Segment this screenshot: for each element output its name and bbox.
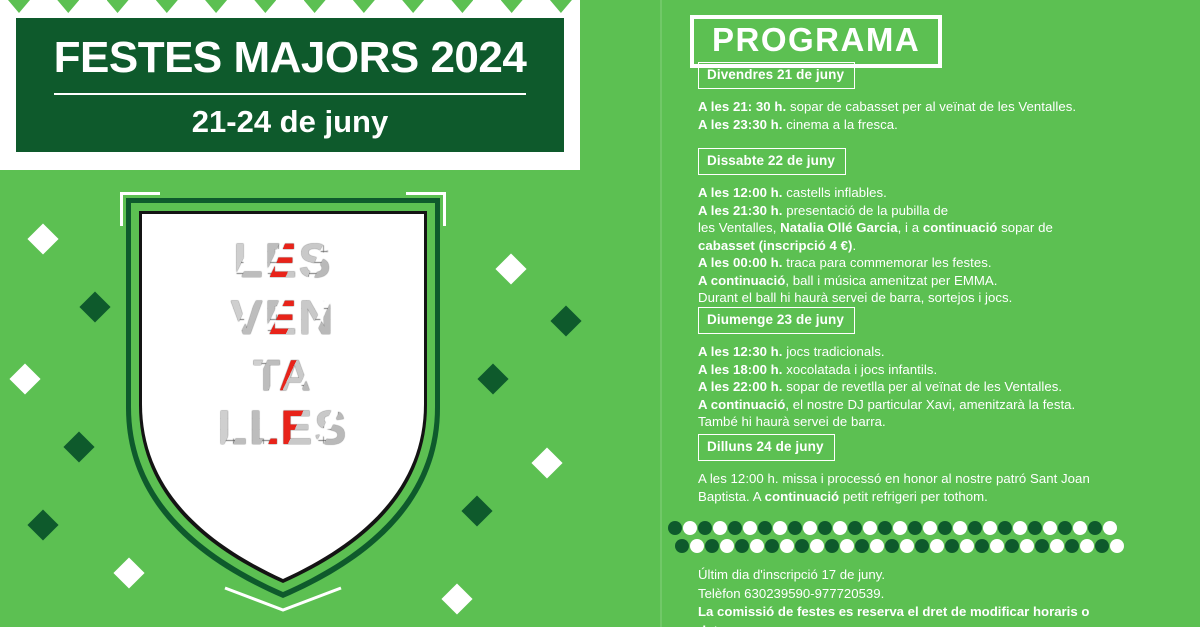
divider-dot bbox=[1080, 539, 1094, 553]
dot-pattern-divider bbox=[668, 521, 1128, 559]
event-emphasis: A continuació bbox=[698, 273, 785, 288]
program-day-tag-label: Divendres 21 de juny bbox=[707, 67, 844, 82]
banner-notch bbox=[451, 0, 473, 13]
crest-line-1: LES bbox=[233, 238, 332, 285]
divider-dot bbox=[960, 539, 974, 553]
event-text: , ball i música amenitzat per EMMA. bbox=[785, 273, 997, 288]
footer-notes: Últim dia d'inscripció 17 de juny.Telèfo… bbox=[698, 566, 1118, 627]
event-emphasis: A les 23:30 h. bbox=[698, 117, 783, 132]
divider-dot bbox=[810, 539, 824, 553]
divider-dot bbox=[968, 521, 982, 535]
event-text: sopar de revetlla per al veïnat de les V… bbox=[783, 379, 1063, 394]
program-day-tag-label: Dilluns 24 de juny bbox=[707, 439, 824, 454]
decorative-diamond bbox=[477, 363, 508, 394]
program-day: Dilluns 24 de junyA les 12:00 h. missa i… bbox=[698, 434, 1168, 505]
divider-dot bbox=[788, 521, 802, 535]
program-event-line: cabasset (inscripció 4 €). bbox=[698, 237, 1168, 255]
event-emphasis: A les 21: 30 h. bbox=[698, 99, 786, 114]
event-emphasis: continuació bbox=[923, 220, 998, 235]
divider-dot bbox=[1065, 539, 1079, 553]
banner-notch bbox=[107, 0, 129, 13]
program-day-tag-label: Dissabte 22 de juny bbox=[707, 153, 835, 168]
divider-dot bbox=[855, 539, 869, 553]
village-crest: LES VEN TA LLES bbox=[118, 190, 448, 610]
footer-note: Últim dia d'inscripció 17 de juny. bbox=[698, 566, 1118, 585]
divider-dot bbox=[750, 539, 764, 553]
divider-dot bbox=[758, 521, 772, 535]
footer-note: Telèfon 630239590-977720539. bbox=[698, 585, 1118, 604]
divider-dot bbox=[1058, 521, 1072, 535]
divider-dot bbox=[705, 539, 719, 553]
divider-dot bbox=[938, 521, 952, 535]
divider-dot bbox=[765, 539, 779, 553]
festival-dates: 21-24 de juny bbox=[192, 106, 388, 137]
banner-notch bbox=[57, 0, 79, 13]
divider-dot bbox=[773, 521, 787, 535]
divider-dot bbox=[675, 539, 689, 553]
divider-dot bbox=[945, 539, 959, 553]
divider-dot bbox=[915, 539, 929, 553]
event-text: sopar de bbox=[997, 220, 1052, 235]
divider-dot bbox=[1095, 539, 1109, 553]
divider-dot bbox=[825, 539, 839, 553]
banner-notch bbox=[353, 0, 375, 13]
divider-dot bbox=[848, 521, 862, 535]
decorative-diamond bbox=[79, 291, 110, 322]
divider-dot bbox=[1020, 539, 1034, 553]
program-day: Diumenge 23 de junyA les 12:30 h. jocs t… bbox=[698, 307, 1168, 431]
event-text: , i a bbox=[898, 220, 923, 235]
crest-wordmark: LES VEN TA LLES bbox=[142, 214, 424, 579]
title-banner-inner: FESTES MAJORS 2024 21-24 de juny bbox=[16, 18, 564, 152]
program-event-line: A les 21: 30 h. sopar de cabasset per al… bbox=[698, 98, 1168, 116]
program-day-tag-label: Diumenge 23 de juny bbox=[707, 312, 844, 327]
program-day-tag: Dilluns 24 de juny bbox=[698, 434, 835, 461]
divider-dot bbox=[870, 539, 884, 553]
program-event-line: També hi haurà servei de barra. bbox=[698, 413, 1168, 431]
event-emphasis: A les 12:00 h. bbox=[698, 185, 783, 200]
divider-dot bbox=[1110, 539, 1124, 553]
divider-dot bbox=[998, 521, 1012, 535]
event-emphasis: A les 21:30 h. bbox=[698, 203, 783, 218]
decorative-diamond bbox=[27, 223, 58, 254]
banner-notch bbox=[304, 0, 326, 13]
program-day: Divendres 21 de junyA les 21: 30 h. sopa… bbox=[698, 62, 1168, 133]
divider-dot bbox=[690, 539, 704, 553]
event-emphasis: A les 00:00 h. bbox=[698, 255, 783, 270]
program-day-tag: Diumenge 23 de juny bbox=[698, 307, 855, 334]
event-text: castells inflables. bbox=[783, 185, 887, 200]
divider-dot bbox=[983, 521, 997, 535]
divider-dot bbox=[1028, 521, 1042, 535]
program-event-line: A les 23:30 h. cinema a la fresca. bbox=[698, 116, 1168, 134]
program-event-line: A les 22:00 h. sopar de revetlla per al … bbox=[698, 378, 1168, 396]
program-event-line: A les 12:00 h. missa i processó en honor… bbox=[698, 470, 1168, 488]
festival-title: FESTES MAJORS 2024 bbox=[54, 36, 527, 80]
banner-notch bbox=[402, 0, 424, 13]
crest-line-3: TA bbox=[253, 354, 312, 397]
decorative-diamond bbox=[550, 305, 581, 336]
program-event-line: Baptista. A continuació petit refrigeri … bbox=[698, 488, 1168, 506]
divider-dot bbox=[1043, 521, 1057, 535]
divider-dot bbox=[1073, 521, 1087, 535]
divider-dot bbox=[878, 521, 892, 535]
divider-dot bbox=[683, 521, 697, 535]
banner-notch bbox=[8, 0, 30, 13]
event-emphasis: A les 22:00 h. bbox=[698, 379, 783, 394]
event-text: sopar de cabasset per al veïnat de les V… bbox=[786, 99, 1076, 114]
divider-dot bbox=[900, 539, 914, 553]
event-text: xocolatada i jocs infantils. bbox=[783, 362, 938, 377]
event-emphasis: continuació bbox=[765, 489, 840, 504]
divider-dot bbox=[1050, 539, 1064, 553]
banner-notch bbox=[156, 0, 178, 13]
banner-notch bbox=[205, 0, 227, 13]
program-heading: PROGRAMA bbox=[690, 15, 942, 68]
event-text: Baptista. A bbox=[698, 489, 765, 504]
divider-dot bbox=[735, 539, 749, 553]
event-text: També hi haurà servei de barra. bbox=[698, 414, 886, 429]
crest-line-2: VEN bbox=[231, 295, 336, 342]
divider-dot bbox=[698, 521, 712, 535]
banner-notch-row bbox=[0, 0, 580, 14]
divider-dot bbox=[840, 539, 854, 553]
footer-note: La comissió de festes es reserva el dret… bbox=[698, 603, 1118, 627]
divider-dot bbox=[893, 521, 907, 535]
left-panel: FESTES MAJORS 2024 21-24 de juny LES VEN… bbox=[0, 0, 660, 627]
dot-row-top bbox=[668, 521, 1118, 535]
divider-dot bbox=[975, 539, 989, 553]
dot-row-bottom bbox=[675, 539, 1125, 553]
program-event-line: A les 00:00 h. traca para commemorar les… bbox=[698, 254, 1168, 272]
divider-dot bbox=[863, 521, 877, 535]
event-emphasis: cabasset (inscripció 4 €) bbox=[698, 238, 852, 253]
program-day: Dissabte 22 de junyA les 12:00 h. castel… bbox=[698, 148, 1168, 307]
divider-dot bbox=[743, 521, 757, 535]
event-emphasis: A les 12:30 h. bbox=[698, 344, 783, 359]
festival-poster: FESTES MAJORS 2024 21-24 de juny LES VEN… bbox=[0, 0, 1200, 627]
program-event-line: A continuació, el nostre DJ particular X… bbox=[698, 396, 1168, 414]
divider-dot bbox=[953, 521, 967, 535]
event-text: . bbox=[852, 238, 856, 253]
event-text: Durant el ball hi haurà servei de barra,… bbox=[698, 290, 1012, 305]
event-text: les Ventalles, bbox=[698, 220, 780, 235]
event-text: petit refrigeri per tothom. bbox=[839, 489, 988, 504]
program-event-line: A continuació, ball i música amenitzat p… bbox=[698, 272, 1168, 290]
program-event-line: A les 12:30 h. jocs tradicionals. bbox=[698, 343, 1168, 361]
divider-dot bbox=[1088, 521, 1102, 535]
divider-dot bbox=[908, 521, 922, 535]
banner-notch bbox=[254, 0, 276, 13]
decorative-diamond bbox=[63, 431, 94, 462]
event-text: , el nostre DJ particular Xavi, amenitza… bbox=[785, 397, 1075, 412]
program-event-line: A les 21:30 h. presentació de la pubilla… bbox=[698, 202, 1168, 220]
program-event-line: A les 12:00 h. castells inflables. bbox=[698, 184, 1168, 202]
event-text: traca para commemorar les festes. bbox=[783, 255, 992, 270]
divider-dot bbox=[728, 521, 742, 535]
divider-dot bbox=[1005, 539, 1019, 553]
divider-dot bbox=[795, 539, 809, 553]
event-text: presentació de la pubilla de bbox=[783, 203, 949, 218]
divider-dot bbox=[1103, 521, 1117, 535]
crest-bottom-chevron bbox=[221, 584, 345, 614]
program-day-tag: Dissabte 22 de juny bbox=[698, 148, 846, 175]
decorative-diamond bbox=[495, 253, 526, 284]
program-heading-label: PROGRAMA bbox=[712, 23, 920, 58]
event-text: A les 12:00 h. missa i processó en honor… bbox=[698, 471, 1090, 486]
banner-notch bbox=[501, 0, 523, 13]
event-emphasis: A les 18:00 h. bbox=[698, 362, 783, 377]
divider-dot bbox=[818, 521, 832, 535]
event-emphasis: Natalia Ollé Garcia bbox=[780, 220, 898, 235]
divider-dot bbox=[990, 539, 1004, 553]
title-divider-rule bbox=[54, 93, 525, 95]
banner-notch bbox=[550, 0, 572, 13]
program-event-line: les Ventalles, Natalia Ollé Garcia, i a … bbox=[698, 219, 1168, 237]
program-day-tag: Divendres 21 de juny bbox=[698, 62, 855, 89]
divider-dot bbox=[720, 539, 734, 553]
divider-dot bbox=[803, 521, 817, 535]
event-emphasis: A continuació bbox=[698, 397, 785, 412]
divider-dot bbox=[1035, 539, 1049, 553]
divider-dot bbox=[833, 521, 847, 535]
title-banner: FESTES MAJORS 2024 21-24 de juny bbox=[0, 0, 580, 170]
divider-dot bbox=[780, 539, 794, 553]
divider-dot bbox=[923, 521, 937, 535]
decorative-diamond bbox=[27, 509, 58, 540]
program-event-line: Durant el ball hi haurà servei de barra,… bbox=[698, 289, 1168, 307]
program-event-line: A les 18:00 h. xocolatada i jocs infanti… bbox=[698, 361, 1168, 379]
divider-dot bbox=[668, 521, 682, 535]
event-text: jocs tradicionals. bbox=[783, 344, 885, 359]
divider-dot bbox=[713, 521, 727, 535]
decorative-diamond bbox=[9, 363, 40, 394]
divider-dot bbox=[885, 539, 899, 553]
crest-line-4: LLES bbox=[218, 405, 349, 452]
divider-dot bbox=[1013, 521, 1027, 535]
decorative-diamond bbox=[461, 495, 492, 526]
divider-dot bbox=[930, 539, 944, 553]
event-text: cinema a la fresca. bbox=[783, 117, 898, 132]
decorative-diamond bbox=[531, 447, 562, 478]
